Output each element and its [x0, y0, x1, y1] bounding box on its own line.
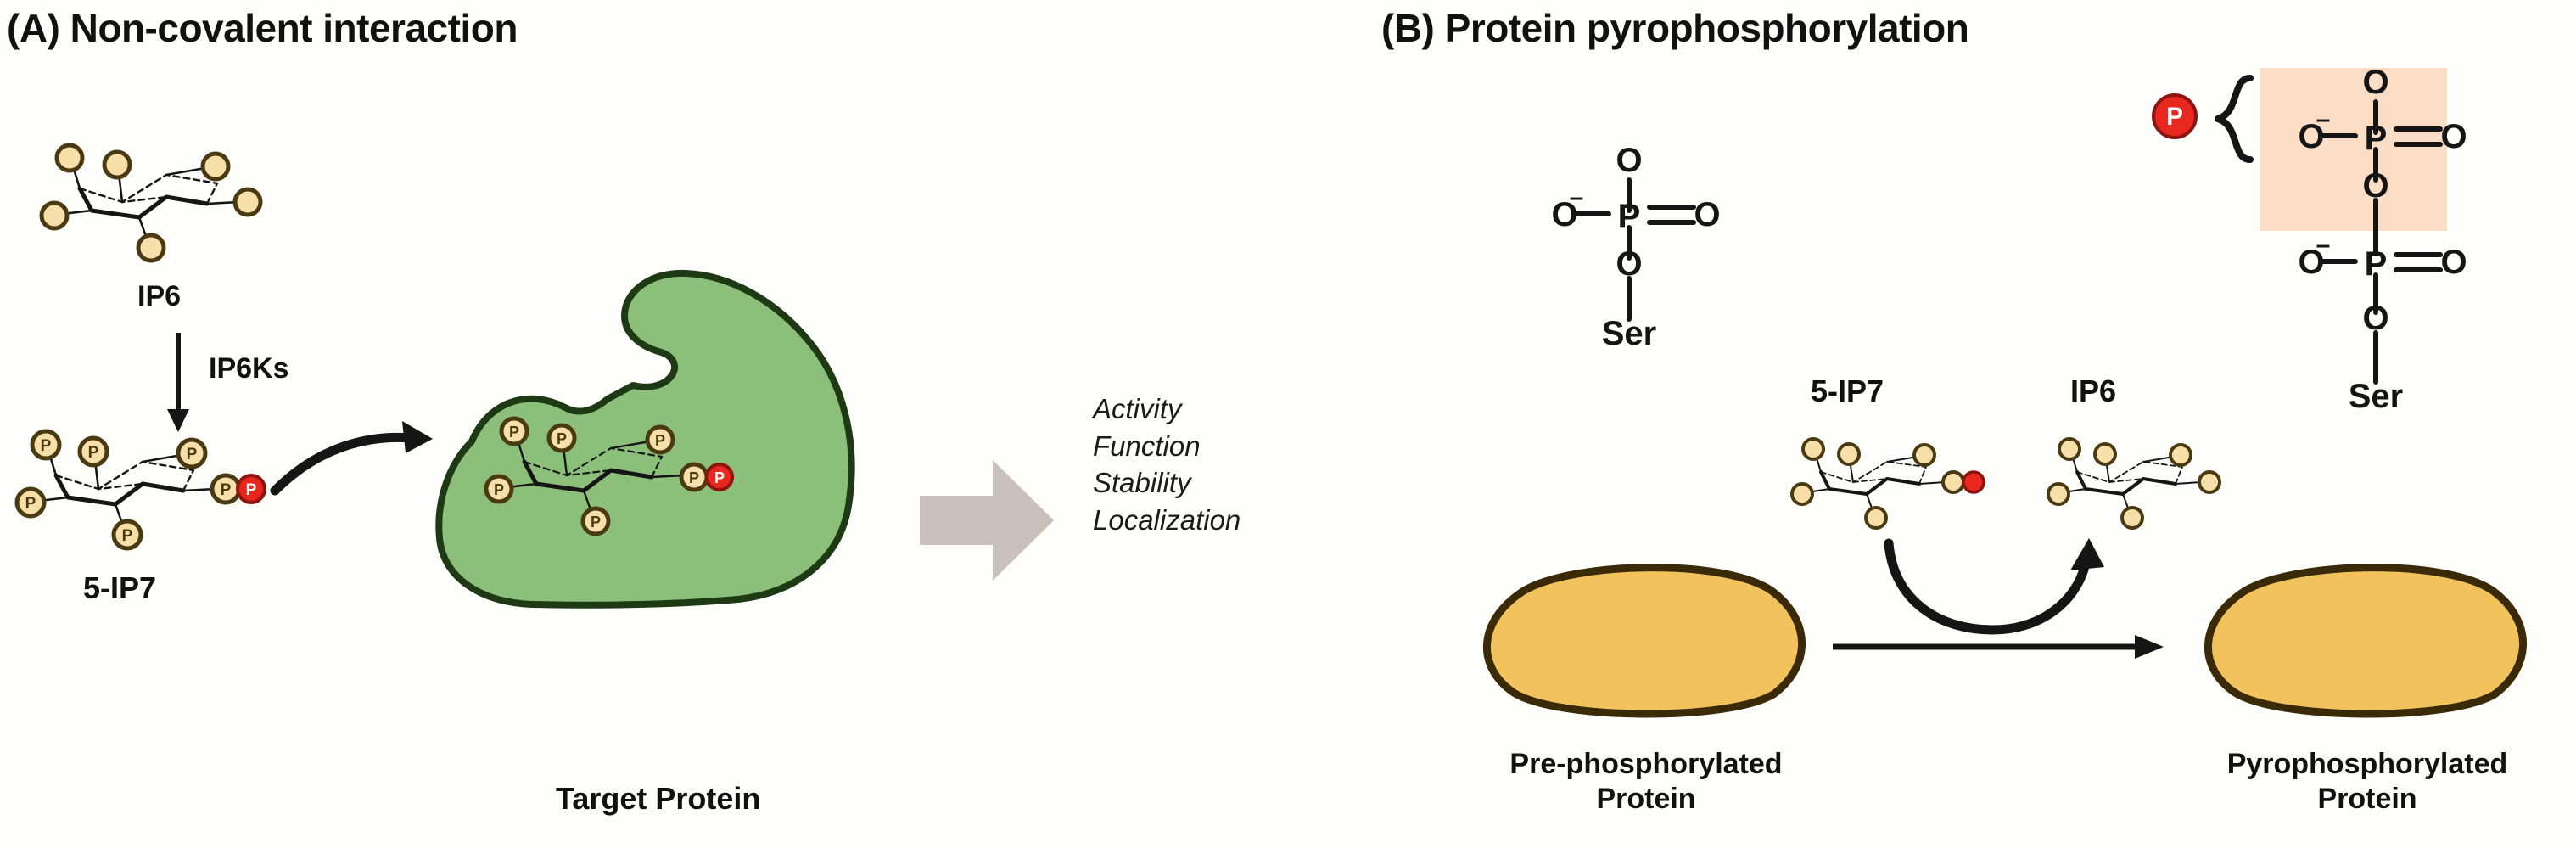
ip6-molecule-panel-b	[2047, 431, 2250, 533]
panel-a-title: (A) Non-covalent interaction	[7, 5, 518, 51]
svg-text:O: O	[2440, 244, 2467, 281]
svg-text:P: P	[41, 437, 52, 455]
figure-canvas: (A) Non-covalent interaction IP6	[0, 0, 2576, 848]
outcome-activity: Activity	[1093, 390, 1240, 428]
svg-text:P: P	[591, 514, 601, 531]
svg-text:P: P	[88, 444, 99, 462]
reaction-arrow-panel-b	[1833, 630, 2172, 664]
ip6-molecule-panel-a	[39, 136, 260, 246]
svg-text:P: P	[2365, 120, 2388, 157]
outcome-function: Function	[1093, 428, 1240, 465]
svg-text:P: P	[122, 527, 133, 545]
ip6ks-arrow	[161, 333, 195, 433]
target-protein-label: Target Protein	[556, 781, 760, 817]
svg-text:P: P	[246, 481, 257, 499]
phosphate-badge-red: P	[2148, 90, 2201, 143]
pre-phosphorylated-caption: Pre-phosphorylated Protein	[1434, 747, 1858, 817]
svg-text:P: P	[187, 446, 198, 463]
svg-text:P: P	[1618, 198, 1641, 235]
svg-text:P: P	[714, 469, 725, 486]
svg-text:–: –	[2316, 105, 2331, 133]
svg-text:P: P	[655, 432, 665, 449]
ip6-label-panel-b: IP6	[2070, 373, 2116, 409]
svg-text:O: O	[1616, 142, 1642, 179]
outcome-stability: Stability	[1093, 464, 1240, 502]
ip7-label-panel-b: 5-IP7	[1811, 373, 1884, 409]
svg-text:O: O	[1616, 245, 1642, 283]
svg-text:O: O	[2440, 118, 2467, 155]
svg-text:P: P	[689, 469, 699, 486]
svg-text:O: O	[2362, 167, 2388, 205]
ip6ks-label: IP6Ks	[209, 352, 289, 385]
svg-text:O: O	[2362, 300, 2388, 337]
ip7-label-panel-a: 5-IP7	[83, 570, 156, 606]
svg-text:P: P	[2166, 103, 2183, 131]
outcome-list: Activity Function Stability Localization	[1093, 390, 1240, 538]
curly-brace	[2211, 75, 2262, 163]
svg-text:P: P	[25, 495, 36, 513]
svg-text:P: P	[557, 430, 567, 447]
ip7-molecule-panel-a: P P P P P P P	[15, 423, 278, 550]
ip6-label-panel-a: IP6	[137, 280, 181, 313]
pyrophosphate-structure: O O – P O O O – P O O Ser	[2274, 66, 2503, 482]
outcome-block-arrow	[920, 457, 1056, 584]
svg-text:P: P	[2365, 245, 2388, 283]
svg-text:O: O	[2362, 64, 2388, 101]
pre-phosphorylated-protein-blob	[1468, 553, 1824, 723]
svg-text:–: –	[2316, 231, 2331, 259]
svg-text:P: P	[221, 481, 232, 499]
ip7-bound-in-pocket: P P P P P P P	[484, 409, 764, 536]
outcome-localization: Localization	[1093, 502, 1240, 539]
pyrophosphorylated-caption: Pyrophosphorylated Protein	[2155, 747, 2576, 817]
svg-text:P: P	[494, 481, 504, 498]
svg-text:P: P	[509, 424, 519, 441]
svg-text:Ser: Ser	[2349, 378, 2404, 415]
ip7-molecule-panel-b	[1790, 431, 1994, 533]
transfer-curved-arrow	[1882, 538, 2103, 640]
monophosphate-structure: O O – P O O Ser	[1527, 153, 1748, 407]
svg-text:–: –	[1570, 183, 1584, 211]
svg-text:Ser: Ser	[1602, 315, 1657, 352]
target-protein-green	[399, 185, 874, 609]
panel-b-title: (B) Protein pyrophosphorylation	[1381, 5, 1968, 51]
pyrophosphorylated-protein-blob	[2189, 553, 2545, 723]
svg-text:O: O	[1694, 196, 1720, 233]
